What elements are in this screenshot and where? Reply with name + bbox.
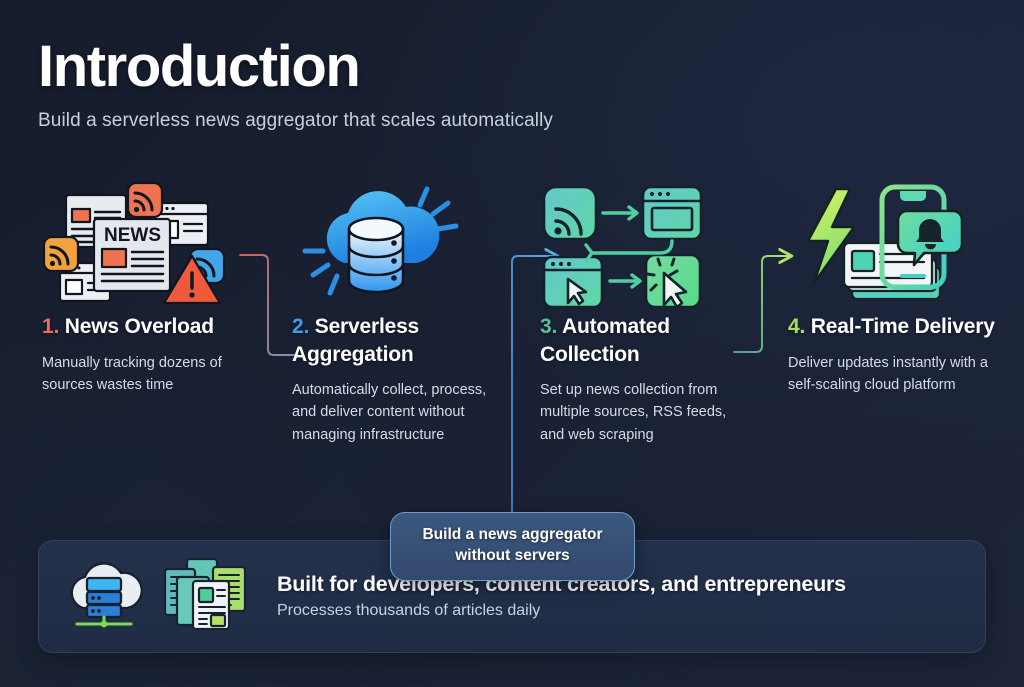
step-card-3[interactable]: 3. Automated Collection Set up news coll… xyxy=(540,178,752,446)
cloud-database-icon xyxy=(292,178,504,313)
phone-notification-icon xyxy=(788,178,1000,313)
step-number: 3. xyxy=(540,315,557,338)
step-card-1[interactable]: NEWS xyxy=(42,178,254,396)
banner-subtitle: Processes thousands of articles daily xyxy=(277,602,846,620)
infographic-canvas: Introduction Build a serverless news agg… xyxy=(0,0,1024,687)
step-number: 2. xyxy=(292,315,309,338)
header: Introduction Build a serverless news agg… xyxy=(38,38,553,132)
step-card-2[interactable]: 2. Serverless Aggregation Automatically … xyxy=(292,178,504,446)
stacked-documents-icon xyxy=(159,557,251,636)
step-heading: 2. Serverless Aggregation xyxy=(292,313,504,368)
banner-icon-group xyxy=(63,557,251,636)
step-description: Set up news collection from multiple sou… xyxy=(540,379,752,445)
step-title: Serverless Aggregation xyxy=(292,315,419,366)
step-card-4[interactable]: 4. Real-Time Delivery Deliver updates in… xyxy=(788,178,1000,396)
step-heading: 4. Real-Time Delivery xyxy=(788,313,1000,341)
automation-flow-icon xyxy=(540,178,752,313)
step-heading: 3. Automated Collection xyxy=(540,313,752,368)
callout-line-2: without servers xyxy=(401,546,624,567)
newspaper-overload-icon: NEWS xyxy=(42,178,254,313)
steps-row: NEWS xyxy=(0,178,1024,498)
step-number: 4. xyxy=(788,315,805,338)
svg-text:NEWS: NEWS xyxy=(104,225,161,246)
page-subtitle: Build a serverless news aggregator that … xyxy=(38,110,553,132)
cloud-server-icon xyxy=(63,558,145,635)
step-title: Real-Time Delivery xyxy=(811,315,995,338)
step-description: Automatically collect, process, and deli… xyxy=(292,379,504,445)
step-heading: 1. News Overload xyxy=(42,313,254,341)
step-description: Manually tracking dozens of sources wast… xyxy=(42,352,254,396)
callout-pill[interactable]: Build a news aggregator without servers xyxy=(390,512,635,581)
step-title: News Overload xyxy=(65,315,214,338)
callout-line-1: Build a news aggregator xyxy=(401,525,624,546)
step-description: Deliver updates instantly with a self-sc… xyxy=(788,352,1000,396)
step-number: 1. xyxy=(42,315,59,338)
step-title: Automated Collection xyxy=(540,315,670,366)
page-title: Introduction xyxy=(38,38,553,96)
